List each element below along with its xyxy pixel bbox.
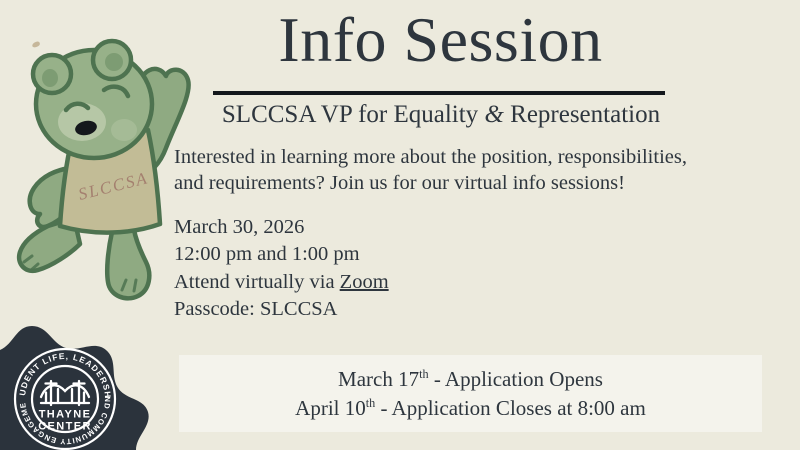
zoom-link[interactable]: Zoom bbox=[340, 271, 389, 293]
info-session-flyer: STUDENT LIFE, LEADERSHIP AND COMMUNITY E… bbox=[0, 0, 800, 450]
title-underline-rule bbox=[213, 91, 665, 95]
page-subtitle: SLCCSA VP for Equality & Representation bbox=[186, 100, 696, 130]
session-date: March 30, 2026 bbox=[174, 214, 594, 241]
application-closes-label: - Application Closes at 8:00 am bbox=[375, 396, 646, 420]
intro-line-1: Interested in learning more about the po… bbox=[174, 144, 794, 170]
application-opens-label: - Application Opens bbox=[429, 367, 603, 391]
bear-mascot-icon: SLCCSA bbox=[8, 18, 198, 303]
intro-paragraph: Interested in learning more about the po… bbox=[174, 144, 794, 196]
intro-line-2: and requirements? Join us for our virtua… bbox=[174, 170, 794, 196]
application-dates-panel: March 17th - Application Opens April 10t… bbox=[179, 355, 762, 432]
attend-line: Attend virtually via Zoom bbox=[174, 269, 594, 296]
crumb-speck bbox=[31, 41, 40, 48]
application-closes-line: April 10th - Application Closes at 8:00 … bbox=[295, 395, 646, 421]
shirt-text: SLCCSA bbox=[76, 168, 150, 204]
application-opens-ordinal: th bbox=[419, 367, 428, 381]
session-details: March 30, 2026 12:00 pm and 1:00 pm Atte… bbox=[174, 214, 594, 323]
application-opens-line: March 17th - Application Opens bbox=[338, 366, 603, 392]
logo-name-line2: CENTER bbox=[38, 421, 92, 433]
subtitle-ampersand: & bbox=[484, 101, 503, 128]
application-closes-ordinal: th bbox=[366, 396, 375, 410]
session-passcode: Passcode: SLCCSA bbox=[174, 296, 594, 323]
subtitle-after: Representation bbox=[504, 101, 660, 128]
logo-name-line1: THAYNE bbox=[39, 409, 92, 421]
attend-prefix: Attend virtually via bbox=[174, 271, 340, 293]
page-title: Info Session bbox=[213, 8, 668, 72]
session-times: 12:00 pm and 1:00 pm bbox=[174, 241, 594, 268]
application-opens-date: March 17 bbox=[338, 367, 419, 391]
thayne-center-logo: STUDENT LIFE, LEADERSHIP AND COMMUNITY E… bbox=[13, 347, 117, 450]
subtitle-before: SLCCSA VP for Equality bbox=[222, 101, 485, 128]
bridge-icon bbox=[41, 381, 89, 405]
application-closes-date: April 10 bbox=[295, 396, 366, 420]
